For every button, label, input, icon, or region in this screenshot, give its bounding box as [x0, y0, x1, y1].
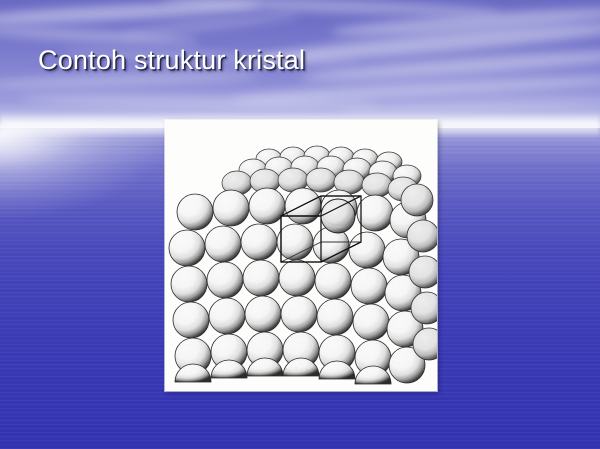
paper-speck-artifacts — [283, 366, 323, 372]
sun-glitter-core — [0, 130, 180, 240]
page-title: Contoh struktur kristal — [38, 44, 305, 76]
crystal-structure-picture[interactable] — [165, 120, 437, 391]
crystal-lattice-drawing — [165, 120, 437, 391]
presentation-slide: Contoh struktur kristal — [0, 0, 600, 449]
